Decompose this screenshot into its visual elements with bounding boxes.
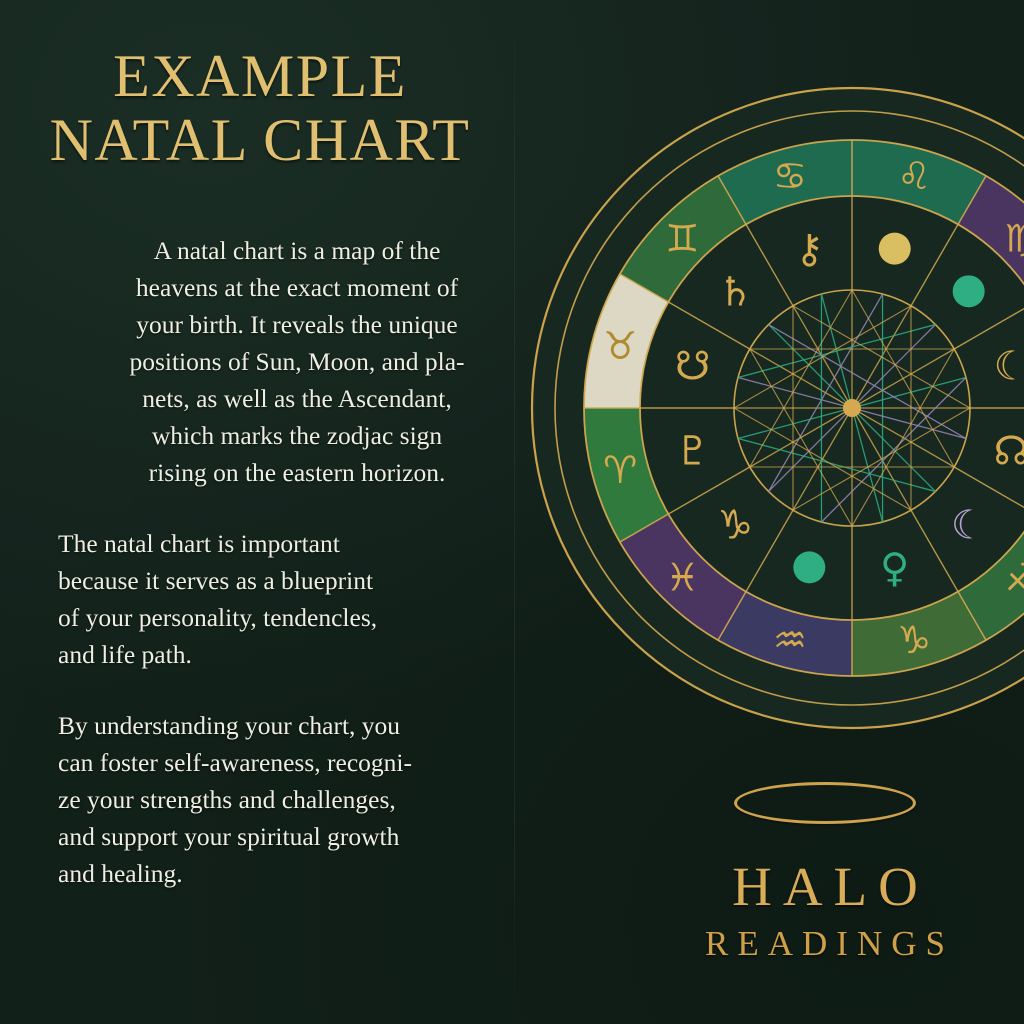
brand-tagline: READINGS [640,922,1010,966]
paragraph-1: A natal chart is a map of the heavens at… [58,232,510,491]
node-disc-icon [953,275,985,307]
venus-icon: ♀ [880,545,909,591]
p2-line-2: because it serves as a blueprint [58,562,510,599]
p2-line-3: of your personality, tendencles, [58,599,510,636]
saturn-mark-icon: ♄ [717,269,753,315]
p3-line-2: can foster self-awareness, recogni- [58,744,510,781]
p2-line-4: and life path. [58,636,510,673]
moon-crescent-icon: ☾ [993,343,1024,389]
natal-chart-wheel: ♌♍♎♏♐♑♒♓♈♉♊♋☾☊☾♀♑♇☋♄⚷ [532,88,1024,728]
zodiac-glyph-aquarius-icon: ♒ [773,618,807,662]
halo-ellipse-icon [734,782,916,824]
title-line-2: NATAL CHART [0,108,520,172]
p1-line-7: rising on the eastern horizon. [58,454,510,491]
zodiac-glyph-pisces-icon: ♓ [665,556,699,600]
brand-logo: HALO READINGS [640,782,1010,966]
paragraph-3: By understanding your chart, you can fos… [58,707,510,892]
p1-line-2: heavens at the exact moment of [58,269,510,306]
brand-name: HALO [640,858,1010,916]
zodiac-glyph-aries-icon: ♈ [603,448,637,492]
p2-line-1: The natal chart is important [58,525,510,562]
p1-line-4: positions of Sun, Moon, and pla- [58,343,510,380]
p1-line-3: your birth. It reveals the unique [58,306,510,343]
p3-line-1: By understanding your chart, you [58,707,510,744]
green-disc-icon [793,551,825,583]
p1-line-5: nets, as well as the Ascendant, [58,380,510,417]
capricorn-mark-icon: ♑ [717,503,753,549]
p1-line-1: A natal chart is a map of the [58,232,510,269]
north-node-icon: ☊ [994,429,1024,475]
zodiac-glyph-capricorn-icon: ♑ [897,618,931,662]
moon-lilac-icon: ☾ [951,503,987,549]
sun-disc-icon [879,233,911,265]
zodiac-glyph-leo-icon: ♌ [897,154,931,198]
body-copy: A natal chart is a map of the heavens at… [58,232,510,926]
south-node-icon: ☋ [675,343,711,389]
poster-canvas: EXAMPLE NATAL CHART A natal chart is a m… [0,0,1024,1024]
title-line-1: EXAMPLE [113,43,407,109]
p3-line-3: ze your strengths and challenges, [58,781,510,818]
p1-line-6: which marks the zodjac sign [58,417,510,454]
paragraph-2: The natal chart is important because it … [58,525,510,673]
zodiac-glyph-cancer-icon: ♋ [773,154,807,198]
chiron-mark-icon: ⚷ [795,227,824,273]
zodiac-glyph-sagittarius-icon: ♐ [1005,556,1024,600]
zodiac-glyph-gemini-icon: ♊ [665,216,699,260]
zodiac-glyph-virgo-right-icon: ♍ [1005,216,1024,260]
page-title: EXAMPLE NATAL CHART [0,44,520,172]
pluto-mark-icon: ♇ [675,429,711,475]
natal-chart-svg: ♌♍♎♏♐♑♒♓♈♉♊♋☾☊☾♀♑♇☋♄⚷ [532,88,1024,728]
zodiac-glyph-taurus-icon: ♉ [603,324,637,368]
p3-line-5: and healing. [58,855,510,892]
p3-line-4: and support your spiritual growth [58,818,510,855]
left-text-panel: EXAMPLE NATAL CHART A natal chart is a m… [0,0,520,1024]
